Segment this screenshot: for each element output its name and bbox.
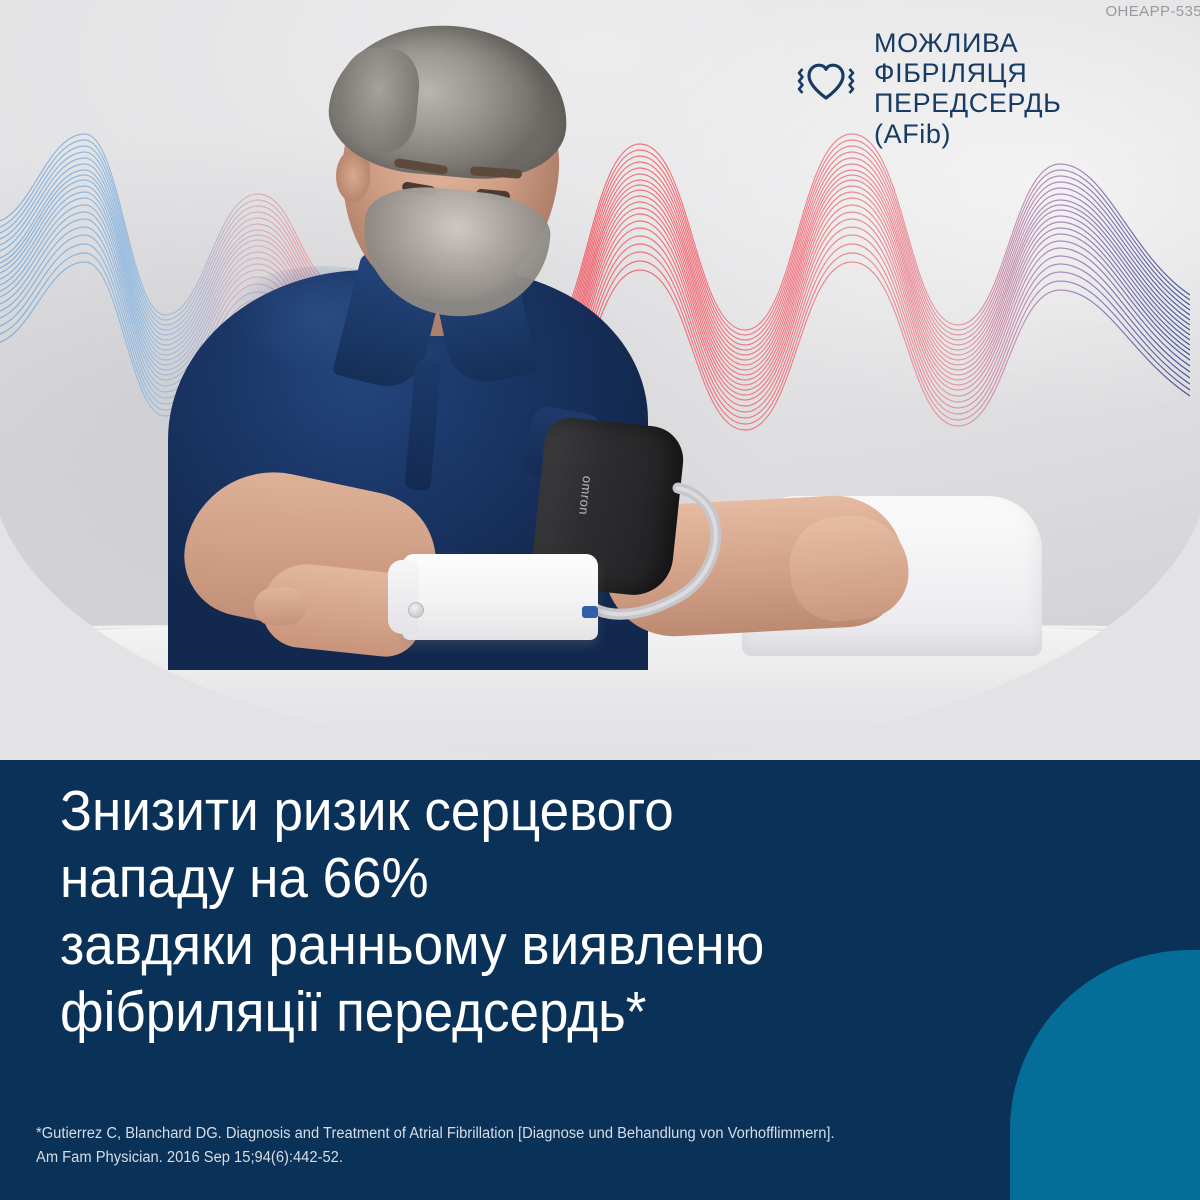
blood-pressure-monitor xyxy=(402,554,598,640)
footnote-line-2: Am Fam Physician. 2016 Sep 15;94(6):442-… xyxy=(36,1146,835,1170)
tube-connector-plug xyxy=(582,606,598,618)
afib-badge-text: МОЖЛИВА ФІБРІЛЯЦЯ ПЕРЕДСЕРДЬ (AFib) xyxy=(874,28,1061,149)
teal-corner-shape xyxy=(1010,950,1200,1200)
headline: Знизити ризик серцевого нападу на 66% за… xyxy=(60,778,990,1046)
headline-line-4: фібриляції передсердь* xyxy=(60,979,990,1046)
badge-line-1: МОЖЛИВА xyxy=(874,28,1018,58)
badge-line-4: (AFib) xyxy=(874,119,951,149)
hero-rounded-mask: omron МОЖЛИВА ФІБРІЛЯЦ xyxy=(0,0,1200,758)
badge-line-2: ФІБРІЛЯЦЯ xyxy=(874,58,1027,88)
heart-vibration-icon xyxy=(796,56,856,109)
footnote-line-1: *Gutierrez C, Blanchard DG. Diagnosis an… xyxy=(36,1122,835,1146)
afib-badge: МОЖЛИВА ФІБРІЛЯЦЯ ПЕРЕДСЕРДЬ (AFib) xyxy=(796,28,1061,149)
badge-line-3: ПЕРЕДСЕРДЬ xyxy=(874,88,1061,118)
monitor-start-button[interactable] xyxy=(408,602,424,618)
headline-line-2: нападу на 66% xyxy=(60,845,990,912)
artwork-code: OHEAPP-535 xyxy=(1105,3,1200,20)
poster-root: omron МОЖЛИВА ФІБРІЛЯЦ xyxy=(0,0,1200,1200)
footnote-citation: *Gutierrez C, Blanchard DG. Diagnosis an… xyxy=(36,1122,835,1170)
hero-photo-area: omron МОЖЛИВА ФІБРІЛЯЦ xyxy=(0,0,1200,760)
headline-line-1: Знизити ризик серцевого xyxy=(60,778,990,845)
headline-line-3: завдяки ранньому виявленю xyxy=(60,912,990,979)
